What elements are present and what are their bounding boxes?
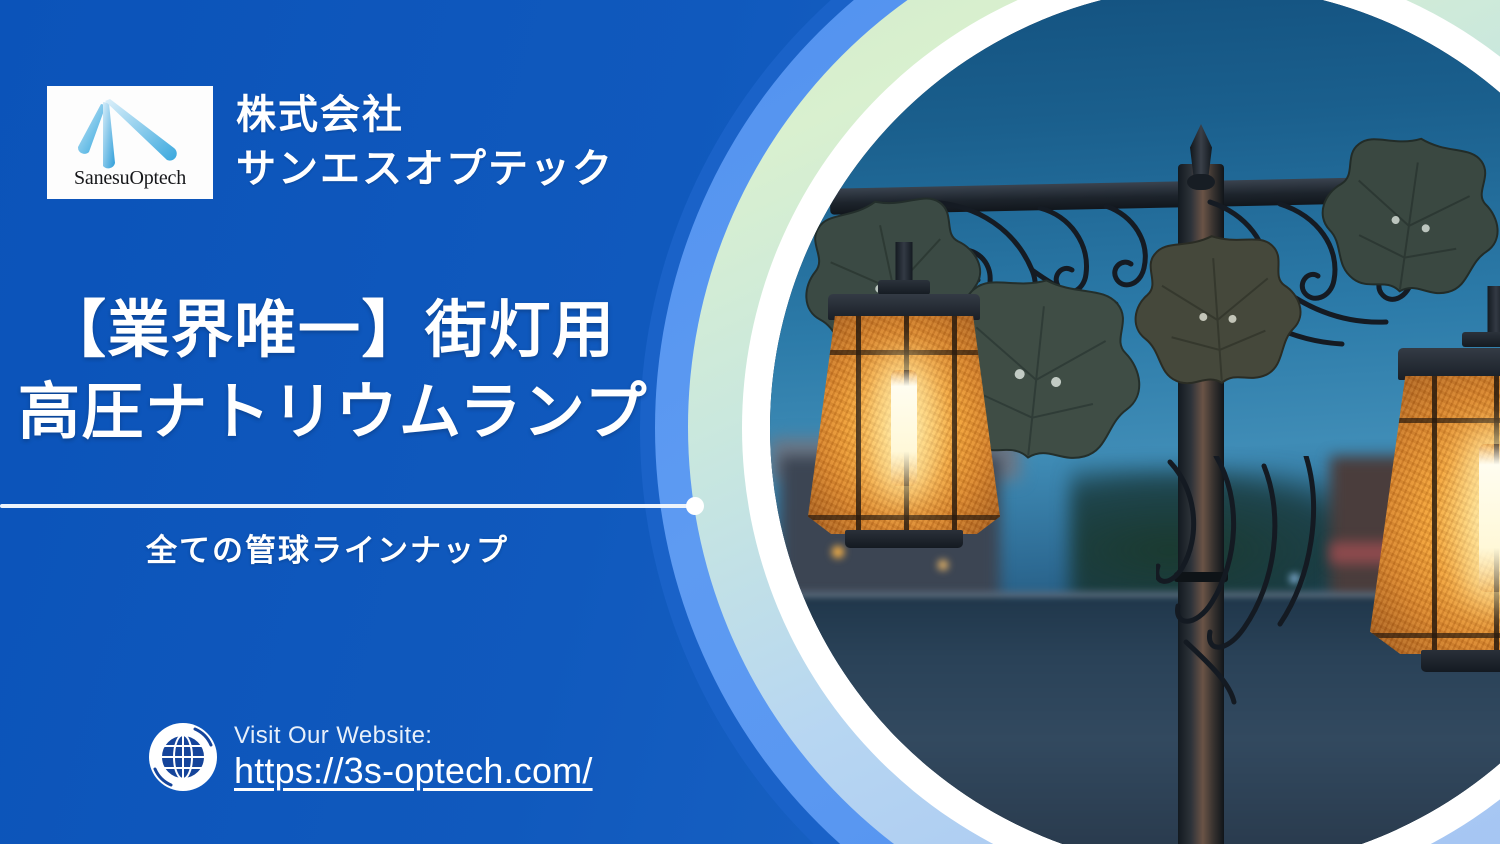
- sodium-bulb: [1479, 444, 1500, 592]
- lantern-collar: [1462, 332, 1500, 347]
- website-block[interactable]: Visit Our Website: https://3s-optech.com…: [148, 722, 593, 792]
- subtitle: 全ての管球ラインナップ: [146, 525, 509, 570]
- divider-line: [0, 504, 700, 508]
- website-url[interactable]: https://3s-optech.com/: [234, 750, 593, 792]
- logo-wordmark: SanesuOptech: [47, 167, 213, 190]
- lantern-mullion: [952, 316, 957, 534]
- lantern-base: [845, 530, 963, 548]
- lantern-cap: [1398, 348, 1500, 380]
- website-label: Visit Our Website:: [234, 723, 593, 750]
- company-name-line1: 株式会社: [236, 89, 614, 142]
- lantern-mullion: [856, 316, 861, 534]
- lantern-rail: [1370, 633, 1500, 638]
- lantern-collar: [878, 280, 930, 295]
- company-name-line2: サンエスオプテック: [236, 143, 614, 196]
- lantern-rail: [1370, 418, 1500, 423]
- divider-dot: [686, 497, 704, 515]
- decorative-grape-leaf: [1116, 224, 1317, 402]
- lantern-base: [1421, 650, 1500, 672]
- page-title: 【業界唯一】街灯用 高圧ナトリウムランプ: [44, 290, 744, 454]
- company-logo: SanesuOptech: [47, 86, 213, 199]
- lantern-rail: [808, 515, 1000, 520]
- iron-scrollwork-lower: [1156, 456, 1396, 706]
- sodium-bulb: [891, 370, 917, 486]
- lamp-finial-collar: [1187, 174, 1215, 190]
- divider: [0, 497, 712, 515]
- globe-icon: [148, 722, 218, 792]
- brand-lockup: SanesuOptech 株式会社 サンエスオプテック: [47, 86, 614, 199]
- right-lantern: [1366, 286, 1500, 716]
- website-text: Visit Our Website: https://3s-optech.com…: [234, 723, 593, 792]
- poster-canvas: SanesuOptech 株式会社 サンエスオプテック 【業界唯一】街灯用 高圧…: [0, 0, 1500, 844]
- page-title-line1: 【業界唯一】街灯用: [44, 290, 744, 372]
- page-title-line2: 高圧ナトリウムランプ: [18, 372, 744, 454]
- company-name: 株式会社 サンエスオプテック: [236, 89, 614, 195]
- left-lantern: [804, 242, 1004, 602]
- street-lamp-photo: [770, 0, 1500, 844]
- lantern-rail: [808, 350, 1000, 355]
